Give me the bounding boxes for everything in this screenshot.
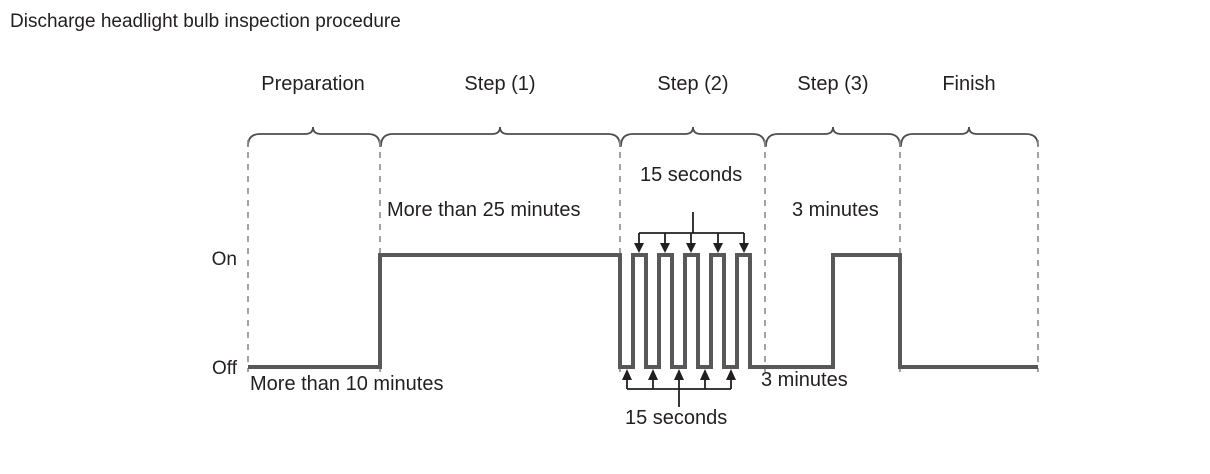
phase-label-step-1: Step (1) [464,73,535,95]
brace-step-3 [766,127,900,146]
step2-off-arrow-4 [700,369,710,380]
timing-diagram-svg: Discharge headlight bulb inspection proc… [0,0,1210,474]
waveform-trace [248,255,1038,367]
phase-label-step-3: Step (3) [797,73,868,95]
phase-braces [248,127,1038,146]
phase-label-step-2: Step (2) [657,73,728,95]
timing-diagram-figure: Discharge headlight bulb inspection proc… [0,0,1210,474]
brace-step-1 [381,127,620,146]
step2-on-arrow-4 [713,243,723,253]
annotation-step2-off-duration: 15 seconds [625,407,727,429]
brace-finish [901,127,1038,146]
step2-on-dimension [634,212,749,253]
annotation-step2-on-duration: 15 seconds [640,164,742,186]
annotation-preparation-duration: More than 10 minutes [250,373,443,395]
axis-label-on: On [212,249,237,270]
step2-on-arrow-1 [634,243,644,253]
annotation-step1-duration: More than 25 minutes [387,199,580,221]
step2-on-arrow-3 [686,243,696,253]
step2-on-arrow-5 [739,243,749,253]
step2-on-arrow-2 [660,243,670,253]
phase-label-finish: Finish [942,73,995,95]
phase-label-preparation: Preparation [261,73,364,95]
page-title: Discharge headlight bulb inspection proc… [10,11,401,32]
step2-off-arrow-2 [648,369,658,380]
annotation-step3-on-duration: 3 minutes [792,199,879,221]
brace-preparation [248,127,380,146]
step2-off-arrow-5 [726,369,736,380]
annotation-step3-off-duration: 3 minutes [761,369,848,391]
step2-off-arrow-1 [622,369,632,380]
brace-step-2 [621,127,765,146]
step2-off-arrow-3 [674,369,684,380]
axis-label-off: Off [212,358,238,379]
step2-off-dimension [622,369,736,407]
